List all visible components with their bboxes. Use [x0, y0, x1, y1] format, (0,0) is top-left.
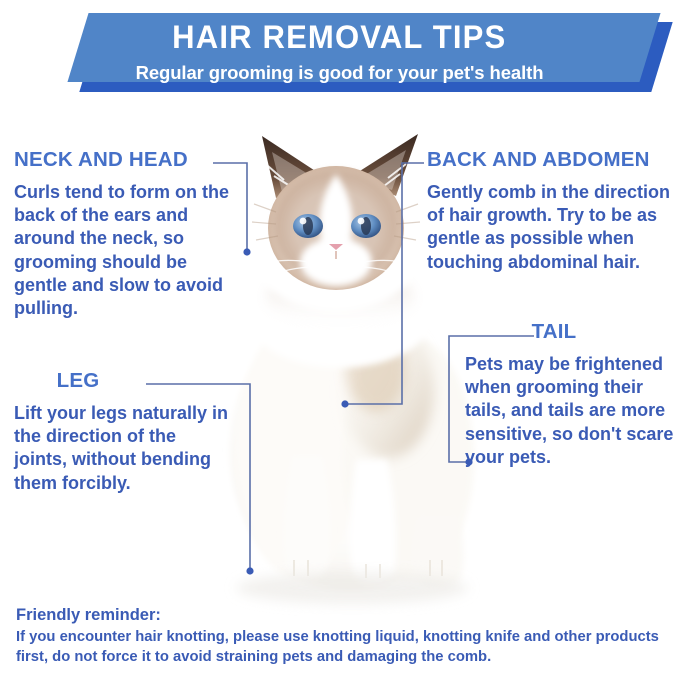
infographic-page: HAIR REMOVAL TIPS Regular grooming is go… [0, 0, 679, 679]
callout-neck-heading: NECK AND HEAD [14, 150, 229, 171]
footer-note: Friendly reminder: If you encounter hair… [16, 606, 666, 668]
callout-back-and-abdomen: BACK AND ABDOMEN Gently comb in the dire… [427, 150, 675, 274]
footer-title: Friendly reminder: [16, 606, 666, 626]
cat-front-leg-right [350, 460, 396, 584]
callout-tail-heading: TAIL [465, 322, 643, 343]
callout-neck-and-head: NECK AND HEAD Curls tend to form on the … [14, 150, 229, 321]
header-banner: HAIR REMOVAL TIPS Regular grooming is go… [0, 0, 679, 100]
callout-leg-body: Lift your legs naturally in the directio… [14, 402, 229, 496]
callout-back-heading: BACK AND ABDOMEN [427, 150, 675, 171]
callout-tail-body: Pets may be frightened when grooming the… [465, 353, 675, 470]
cat-ground-shadow [236, 572, 468, 604]
callout-neck-body: Curls tend to form on the back of the ea… [14, 181, 229, 321]
banner-main-shape [67, 13, 660, 82]
footer-body: If you encounter hair knotting, please u… [16, 628, 666, 668]
callout-tail: TAIL Pets may be frightened when groomin… [465, 322, 675, 469]
callout-back-body: Gently comb in the direction of hair gro… [427, 181, 675, 275]
callout-leg: LEG Lift your legs naturally in the dire… [14, 371, 229, 495]
callout-leg-heading: LEG [14, 371, 142, 392]
